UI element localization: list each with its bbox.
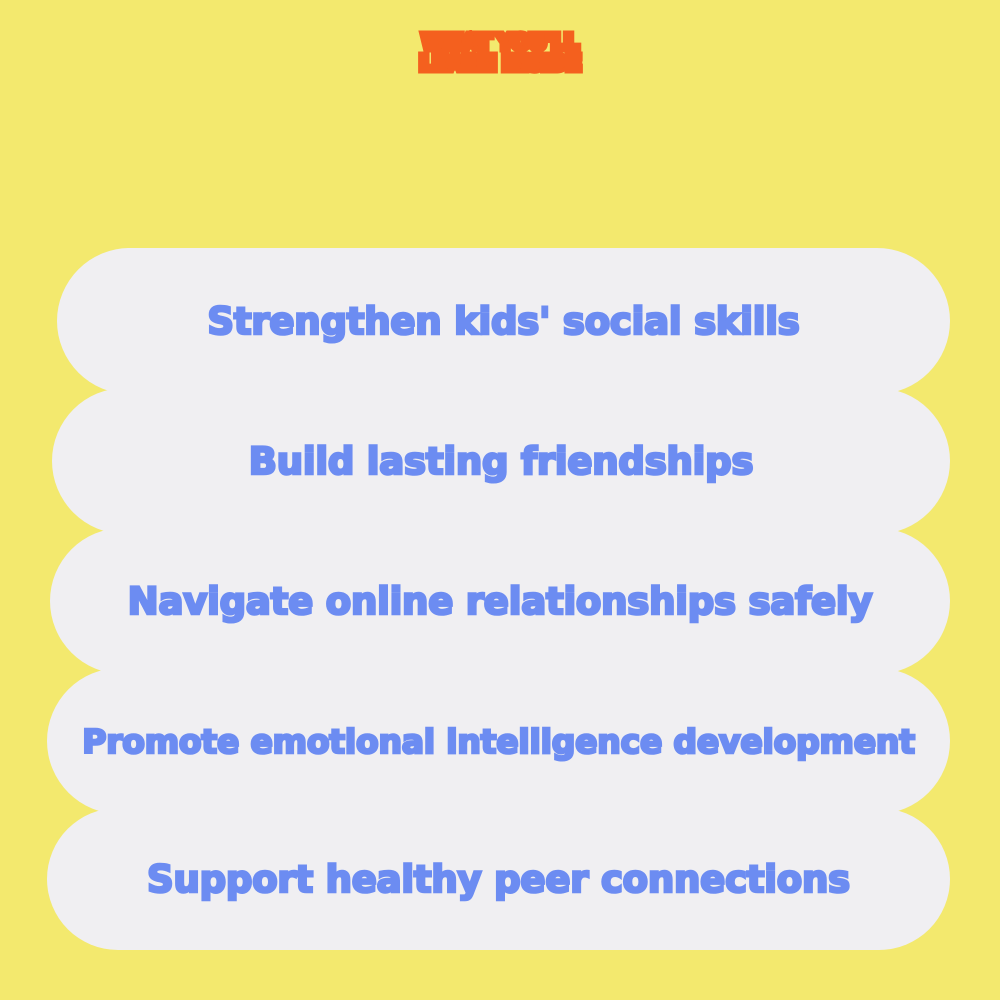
benefit-card-label: Support healthy peer connections (147, 861, 850, 898)
poster-canvas: WHAT YOU'LL LEARN INSIDE Strengthen kids… (0, 0, 1000, 1000)
page-title-line-2: LEARN INSIDE (0, 55, 1000, 72)
benefit-card[interactable]: Strengthen kids' social skills (57, 248, 950, 394)
page-title: WHAT YOU'LL LEARN INSIDE (0, 34, 1000, 72)
benefit-card-stack: Strengthen kids' social skills Build las… (0, 248, 1000, 950)
page-title-line-1: WHAT YOU'LL (0, 34, 1000, 51)
benefit-card[interactable]: Promote emotional intelligence developme… (47, 668, 950, 814)
benefit-card[interactable]: Navigate online relationships safely (50, 528, 950, 674)
benefit-card-label: Build lasting friendships (249, 443, 754, 480)
benefit-card[interactable]: Support healthy peer connections (47, 808, 950, 950)
benefit-card[interactable]: Build lasting friendships (52, 388, 950, 534)
benefit-card-label: Navigate online relationships safely (128, 583, 873, 620)
benefit-card-label: Promote emotional intelligence developme… (82, 725, 915, 758)
benefit-card-label: Strengthen kids' social skills (207, 303, 799, 340)
